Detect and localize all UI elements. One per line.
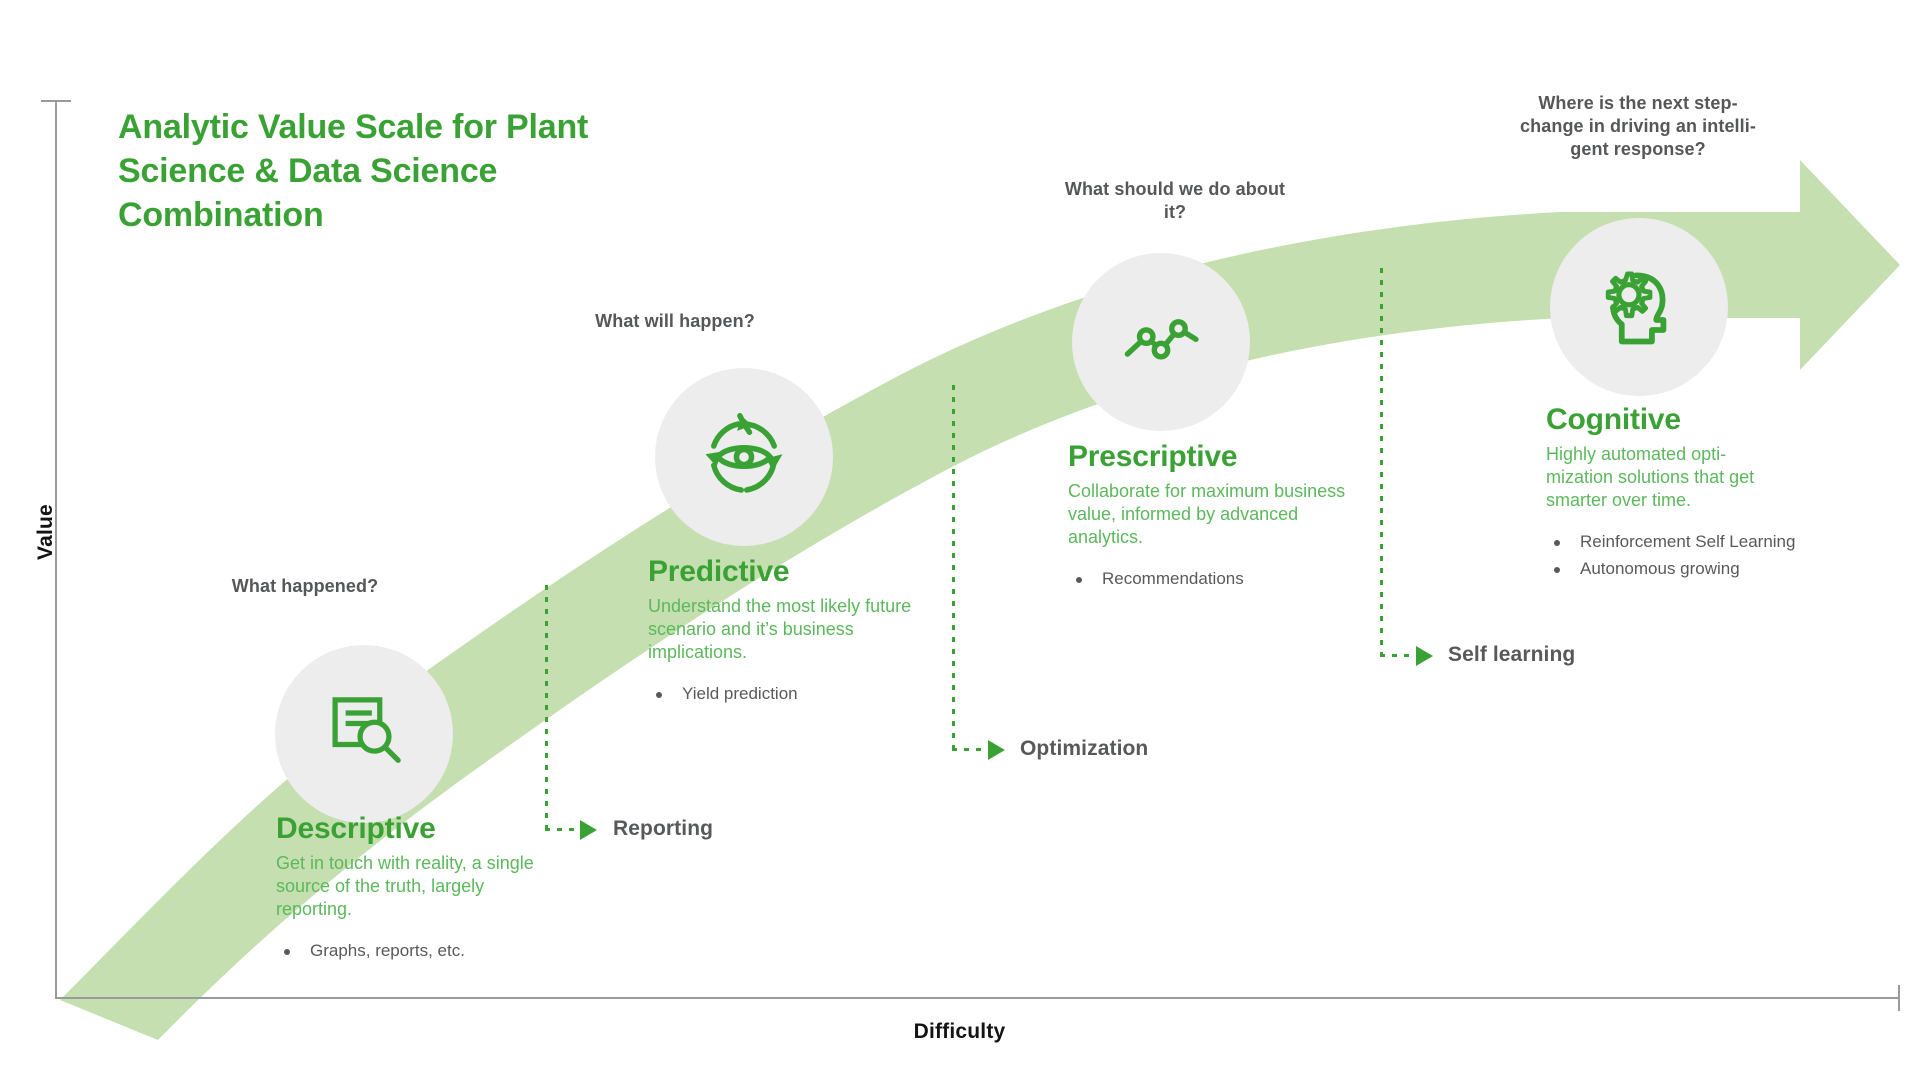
infographic-canvas: Value Difficulty Analytic Value Scale fo… xyxy=(0,0,1919,1080)
stage-circle-descriptive xyxy=(275,645,453,823)
connector-line-self-learning xyxy=(1380,268,1383,656)
stage-block-descriptive: Descriptive Get in touch with reality, a… xyxy=(276,812,546,966)
connector-label-self-learning: Self learning xyxy=(1448,643,1575,667)
question-prescriptive: What should we do about it? xyxy=(1055,178,1295,224)
connector-arrowhead-self-learning xyxy=(1416,646,1433,666)
stage-block-cognitive: Cognitive Highly automated opti- mizatio… xyxy=(1546,403,1796,584)
x-axis-line xyxy=(55,997,1900,999)
connector-arrowhead-reporting xyxy=(580,820,597,840)
x-axis-label: Difficulty xyxy=(0,1020,1919,1044)
list-item: Yield prediction xyxy=(648,682,938,706)
connector-line-reporting xyxy=(545,585,548,830)
stage-title-cognitive: Cognitive xyxy=(1546,403,1796,437)
connector-line-optimization xyxy=(952,385,955,750)
head-gear-icon xyxy=(1593,261,1685,353)
line-chart-icon xyxy=(1118,299,1204,385)
stage-desc-descriptive: Get in touch with reality, a single sour… xyxy=(276,852,546,921)
list-item: Recommendations xyxy=(1068,567,1368,591)
stage-desc-prescriptive: Collaborate for maximum business value, … xyxy=(1068,480,1368,549)
stage-circle-cognitive xyxy=(1550,218,1728,396)
stage-bullets-cognitive: Reinforcement Self Learning Autonomous g… xyxy=(1546,530,1796,581)
question-descriptive: What happened? xyxy=(190,575,420,598)
list-item: Reinforcement Self Learning xyxy=(1546,530,1796,554)
connector-label-optimization: Optimization xyxy=(1020,737,1148,761)
question-cognitive: Where is the next step-change in driving… xyxy=(1513,92,1763,161)
y-axis-label: Value xyxy=(34,472,58,592)
x-axis-cap xyxy=(1898,985,1900,1011)
connector-arrowhead-optimization xyxy=(988,740,1005,760)
stage-bullets-prescriptive: Recommendations xyxy=(1068,567,1368,591)
stage-block-predictive: Predictive Understand the most likely fu… xyxy=(648,555,938,709)
stage-title-prescriptive: Prescriptive xyxy=(1068,440,1368,474)
stage-bullets-predictive: Yield prediction xyxy=(648,682,938,706)
connector-label-reporting: Reporting xyxy=(613,817,713,841)
list-item: Graphs, reports, etc. xyxy=(276,939,546,963)
list-item: Autonomous growing xyxy=(1546,557,1796,581)
stage-bullets-descriptive: Graphs, reports, etc. xyxy=(276,939,546,963)
question-predictive: What will happen? xyxy=(545,310,805,333)
stage-title-predictive: Predictive xyxy=(648,555,938,589)
stage-desc-predictive: Understand the most likely future scenar… xyxy=(648,595,938,664)
page-title: Analytic Value Scale for Plant Science &… xyxy=(118,105,658,237)
connector-arm-optimization xyxy=(952,748,990,751)
eye-refresh-icon xyxy=(700,413,788,501)
stage-title-descriptive: Descriptive xyxy=(276,812,546,846)
stage-circle-prescriptive xyxy=(1072,253,1250,431)
stage-circle-predictive xyxy=(655,368,833,546)
stage-block-prescriptive: Prescriptive Collaborate for maximum bus… xyxy=(1068,440,1368,594)
stage-desc-cognitive: Highly automated opti- mization solution… xyxy=(1546,443,1796,512)
document-search-icon xyxy=(322,692,406,776)
connector-arm-reporting xyxy=(545,828,583,831)
connector-arm-self-learning xyxy=(1380,654,1418,657)
